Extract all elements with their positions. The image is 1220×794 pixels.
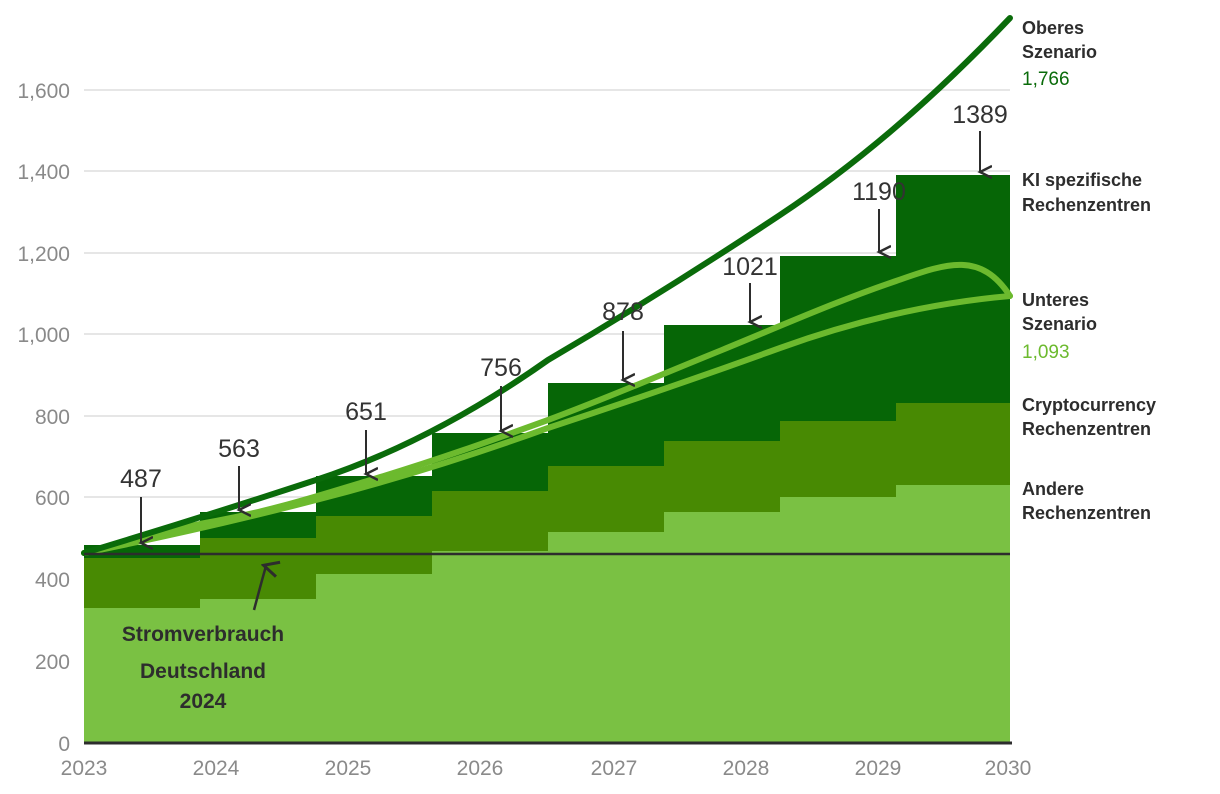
legend-item-oberes-szenario[interactable]: Oberes Szenario 1,766: [1022, 18, 1097, 90]
value-label-2027: 878: [602, 298, 644, 326]
y-axis-tick-labels: 1,600 1,400 1,200 1,000 800 600 400 200 …: [17, 80, 70, 756]
legend-value: 1,766: [1022, 69, 1070, 90]
legend-value: 1,093: [1022, 342, 1070, 363]
value-label-2030: 1389: [952, 101, 1008, 129]
legend-label-line1: Cryptocurrency: [1022, 395, 1156, 415]
value-label-2023: 487: [120, 465, 162, 493]
y-tick-label: 1,200: [17, 243, 70, 266]
legend-item-ki-spezifische-rechenzentren[interactable]: KI spezifische Rechenzentren: [1022, 170, 1151, 215]
y-tick-label: 200: [35, 651, 70, 674]
chart-container: 1,600 1,400 1,200 1,000 800 600 400 200 …: [0, 0, 1220, 794]
value-label-2024: 563: [218, 435, 260, 463]
legend-item-unteres-szenario[interactable]: Unteres Szenario 1,093: [1022, 290, 1097, 363]
legend-label-line2: Szenario: [1022, 314, 1097, 334]
value-label-2028: 1021: [722, 253, 778, 281]
legend-label-line2: Szenario: [1022, 42, 1097, 62]
legend-label-line1: Oberes: [1022, 18, 1084, 38]
y-tick-label: 0: [58, 733, 70, 756]
x-tick-label: 2027: [591, 757, 638, 780]
x-axis-tick-labels: 2023 2024 2025 2026 2027 2028 2029 2030: [61, 757, 1032, 780]
y-tick-label: 1,000: [17, 324, 70, 347]
legend-label-line1: KI spezifische: [1022, 170, 1142, 190]
legend-label-line2: Rechenzentren: [1022, 419, 1151, 439]
x-tick-label: 2026: [457, 757, 504, 780]
legend-label-line1: Unteres: [1022, 290, 1089, 310]
legend-item-cryptocurrency-rechenzentren[interactable]: Cryptocurrency Rechenzentren: [1022, 395, 1156, 439]
annotation-line-1: Stromverbrauch: [122, 623, 284, 646]
legend: Oberes Szenario 1,766 KI spezifische Rec…: [1022, 18, 1156, 523]
legend-label-line2: Rechenzentren: [1022, 195, 1151, 215]
value-label-2026: 756: [480, 354, 522, 382]
value-label-2029: 1190: [852, 178, 906, 206]
value-label-2025: 651: [345, 398, 387, 426]
y-tick-label: 800: [35, 406, 70, 429]
annotation-line-2: Deutschland: [140, 660, 266, 683]
x-tick-label: 2030: [985, 757, 1032, 780]
legend-label-line2: Rechenzentren: [1022, 503, 1151, 523]
legend-label-line1: Andere: [1022, 479, 1084, 499]
x-tick-label: 2023: [61, 757, 108, 780]
y-tick-label: 400: [35, 569, 70, 592]
x-tick-label: 2029: [855, 757, 902, 780]
legend-item-andere-rechenzentren[interactable]: Andere Rechenzentren: [1022, 479, 1151, 523]
annotation-line-3: 2024: [180, 690, 227, 713]
chart-svg: 1,600 1,400 1,200 1,000 800 600 400 200 …: [0, 0, 1220, 794]
x-tick-label: 2028: [723, 757, 770, 780]
x-tick-label: 2024: [193, 757, 240, 780]
y-tick-label: 1,600: [17, 80, 70, 103]
y-tick-label: 1,400: [17, 161, 70, 184]
x-tick-label: 2025: [325, 757, 372, 780]
y-tick-label: 600: [35, 487, 70, 510]
